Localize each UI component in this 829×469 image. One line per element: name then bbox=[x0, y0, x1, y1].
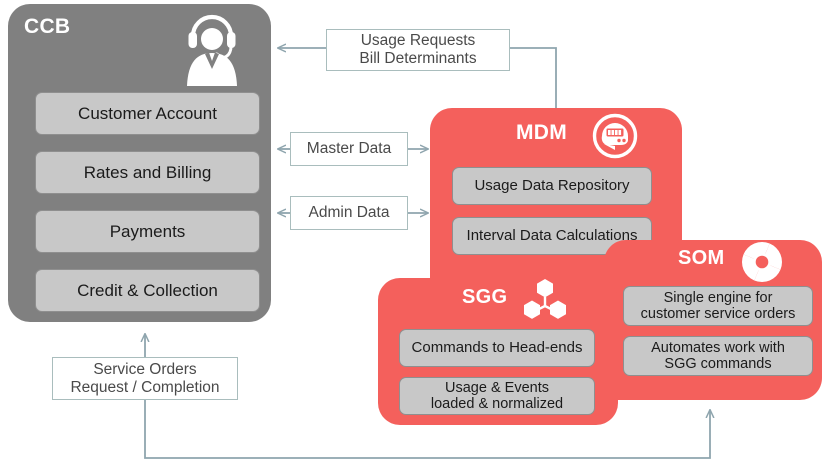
som-item-automates-work-line1: Automates work with bbox=[651, 340, 785, 356]
headset-agent-icon bbox=[181, 12, 243, 86]
panel-ccb-title: CCB bbox=[24, 15, 70, 39]
ccb-item-customer-account[interactable]: Customer Account bbox=[35, 92, 260, 135]
som-item-single-engine[interactable]: Single engine for customer service order… bbox=[623, 286, 813, 326]
som-item-single-engine-line2: customer service orders bbox=[641, 306, 796, 322]
connector-label-service-orders-line2: Request / Completion bbox=[70, 379, 219, 396]
connector-label-service-orders[interactable]: Service Orders Request / Completion bbox=[52, 357, 238, 400]
connector-label-admin-data[interactable]: Admin Data bbox=[290, 196, 408, 230]
connector-label-usage-requests[interactable]: Usage Requests Bill Determinants bbox=[326, 29, 510, 71]
ccb-item-rates-and-billing[interactable]: Rates and Billing bbox=[35, 151, 260, 194]
wire-mdm-to-usage-caption bbox=[510, 48, 556, 108]
connector-label-usage-requests-line1: Usage Requests bbox=[361, 32, 476, 49]
ccb-item-credit-and-collection[interactable]: Credit & Collection bbox=[35, 269, 260, 312]
connector-label-service-orders-line1: Service Orders bbox=[93, 361, 196, 378]
mdm-item-usage-data-repository[interactable]: Usage Data Repository bbox=[452, 167, 652, 205]
sgg-item-usage-and-events-line1: Usage & Events bbox=[445, 380, 549, 396]
lifebuoy-icon bbox=[740, 240, 784, 284]
som-item-automates-work[interactable]: Automates work with SGG commands bbox=[623, 336, 813, 376]
hexagon-network-icon bbox=[520, 277, 570, 325]
panel-ccb[interactable]: CCB Customer Account Rates and Billing P… bbox=[8, 4, 271, 322]
som-item-single-engine-line1: Single engine for bbox=[664, 290, 773, 306]
diagram-canvas: CCB Customer Account Rates and Billing P… bbox=[0, 0, 829, 469]
som-item-automates-work-line2: SGG commands bbox=[664, 356, 771, 372]
sgg-item-commands-to-head-ends[interactable]: Commands to Head-ends bbox=[399, 329, 595, 367]
ccb-item-payments[interactable]: Payments bbox=[35, 210, 260, 253]
panel-sgg[interactable]: SGG Commands to Head-ends Usage & Events… bbox=[378, 278, 618, 425]
panel-mdm-title: MDM bbox=[516, 121, 567, 145]
panel-som[interactable]: SOM Single engine for customer service o… bbox=[604, 240, 822, 400]
connector-label-usage-requests-line2: Bill Determinants bbox=[359, 50, 476, 67]
sgg-item-usage-and-events-line2: loaded & normalized bbox=[431, 396, 563, 412]
panel-sgg-title: SGG bbox=[462, 286, 507, 309]
panel-som-title: SOM bbox=[678, 247, 724, 270]
connector-label-master-data[interactable]: Master Data bbox=[290, 132, 408, 166]
sgg-item-usage-and-events[interactable]: Usage & Events loaded & normalized bbox=[399, 377, 595, 415]
meter-icon bbox=[592, 113, 638, 159]
